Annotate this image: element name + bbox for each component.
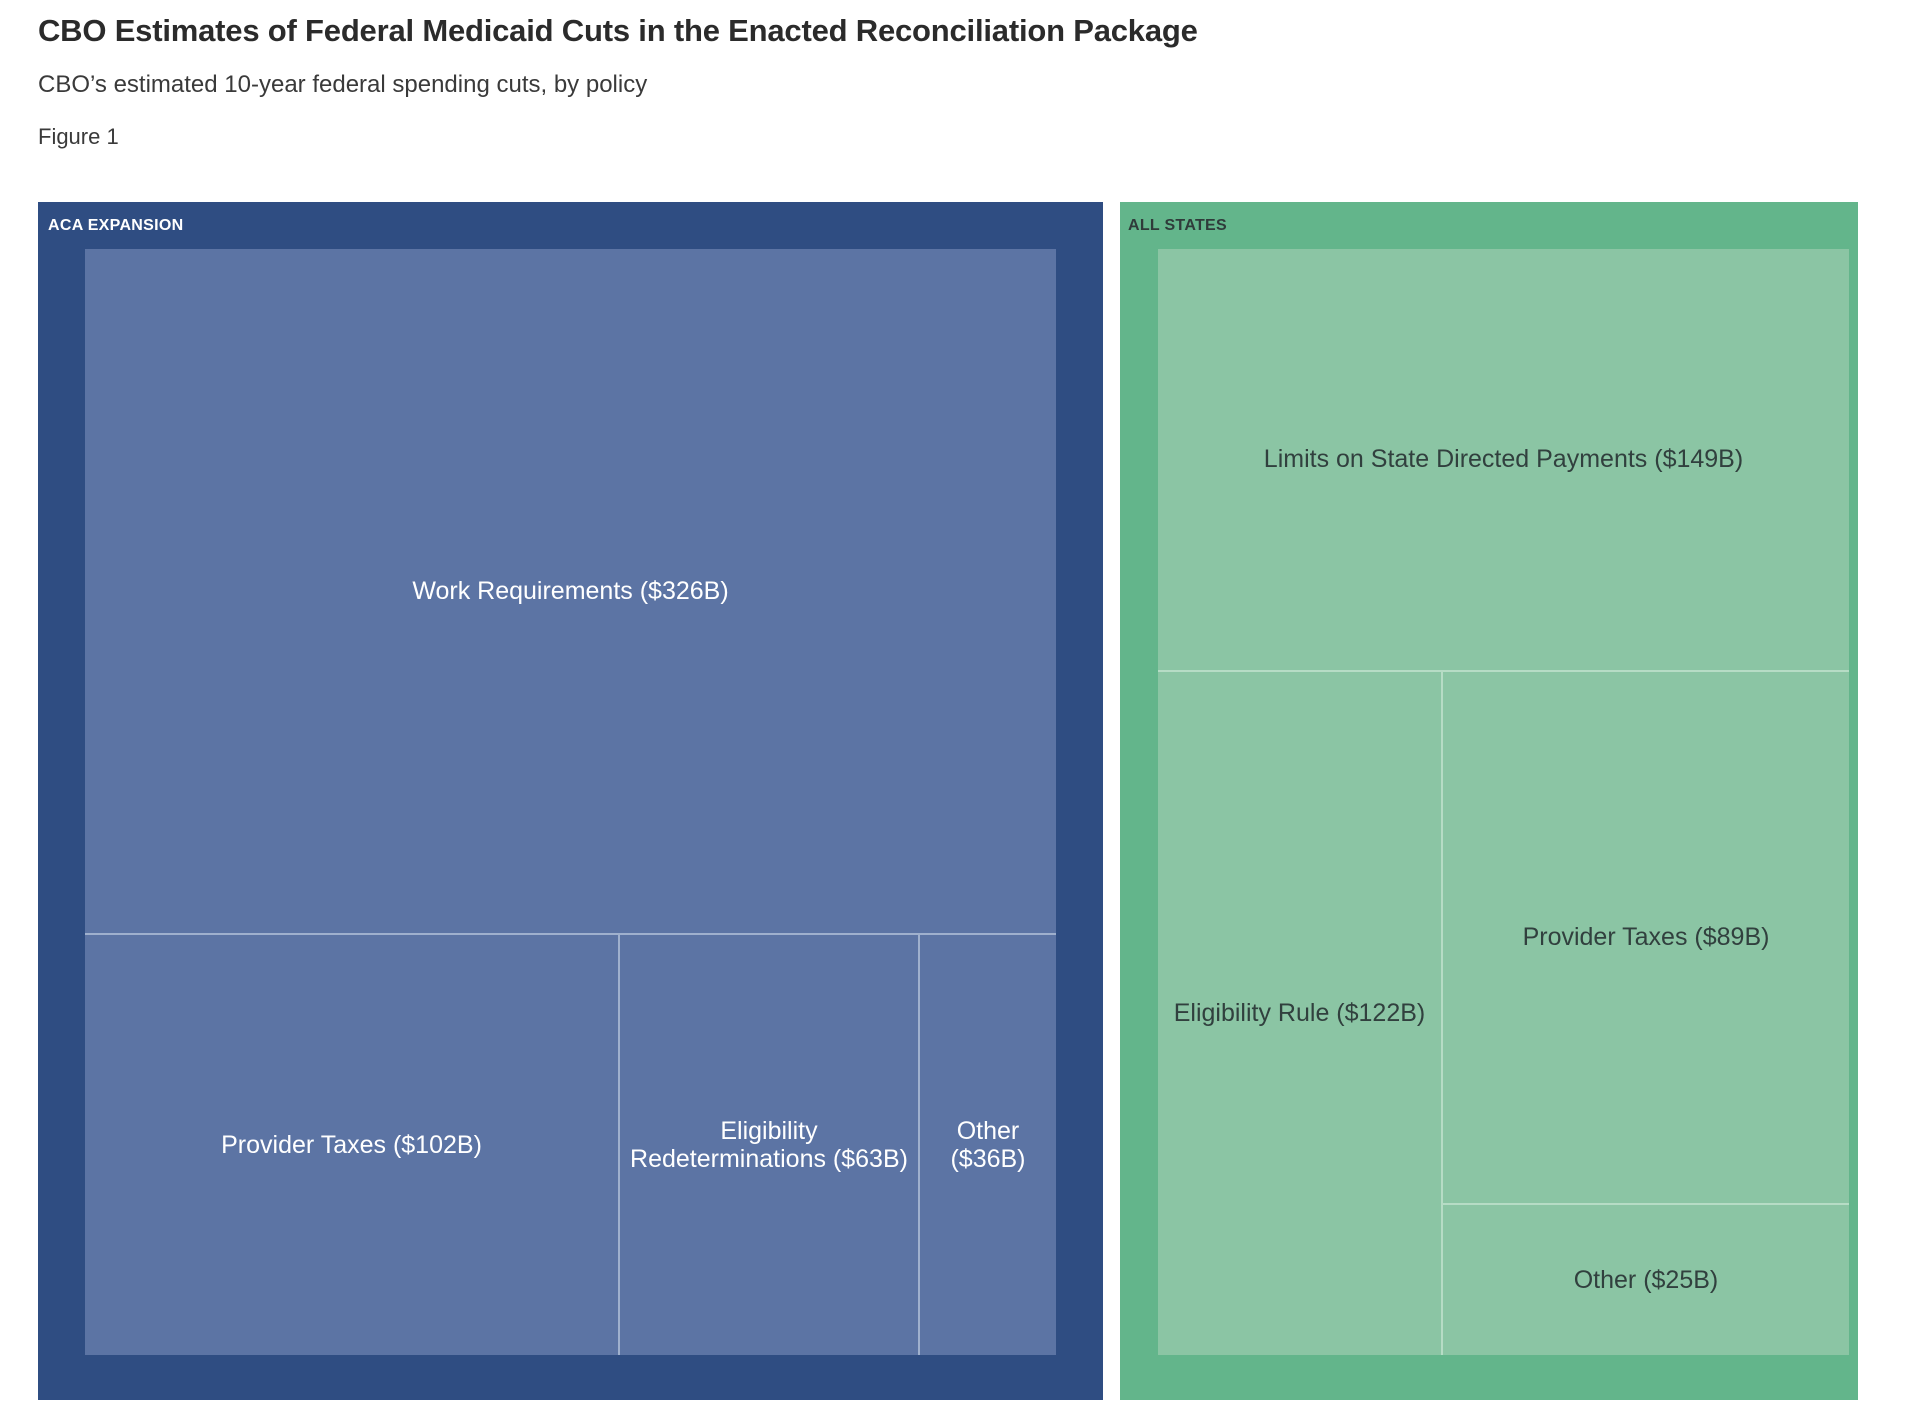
- treemap-group-all-states: ALL STATES Limits on State Directed Paym…: [1120, 202, 1858, 1400]
- treemap-tile-label: Provider Taxes ($102B): [221, 1131, 482, 1160]
- page-title: CBO Estimates of Federal Medicaid Cuts i…: [38, 0, 1879, 49]
- treemap-tiles-aca: Work Requirements ($326B) Provider Taxes…: [85, 249, 1056, 1355]
- treemap-tiles-all-states: Limits on State Directed Payments ($149B…: [1158, 249, 1849, 1355]
- treemap-tile-provider-taxes-all-states[interactable]: Provider Taxes ($89B): [1443, 672, 1849, 1205]
- treemap-tile-label: Provider Taxes ($89B): [1523, 923, 1770, 952]
- figure-label: Figure 1: [38, 100, 1879, 150]
- treemap-tile-label: Work Requirements ($326B): [412, 577, 728, 606]
- treemap-group-aca-expansion: ACA EXPANSION Work Requirements ($326B) …: [38, 202, 1103, 1400]
- treemap-tile-work-requirements[interactable]: Work Requirements ($326B): [85, 249, 1056, 935]
- treemap-tile-limits-on-state-directed-payments[interactable]: Limits on State Directed Payments ($149B…: [1158, 249, 1849, 672]
- treemap-tile-other-aca[interactable]: Other ($36B): [920, 935, 1056, 1355]
- group-header-aca-expansion: ACA EXPANSION: [38, 202, 1103, 249]
- group-header-all-states: ALL STATES: [1120, 202, 1858, 249]
- treemap-tile-label: Eligibility Redeterminations ($63B): [630, 1117, 908, 1174]
- treemap-tile-eligibility-rule[interactable]: Eligibility Rule ($122B): [1158, 672, 1443, 1355]
- group-header-label: ALL STATES: [1128, 218, 1227, 234]
- treemap-tile-label: Eligibility Rule ($122B): [1174, 999, 1426, 1028]
- treemap-tile-other-all-states[interactable]: Other ($25B): [1443, 1205, 1849, 1355]
- group-header-label: ACA EXPANSION: [48, 218, 183, 234]
- chart-page: CBO Estimates of Federal Medicaid Cuts i…: [0, 0, 1917, 1420]
- treemap-tile-eligibility-redeterminations[interactable]: Eligibility Redeterminations ($63B): [620, 935, 920, 1355]
- chart-header: CBO Estimates of Federal Medicaid Cuts i…: [38, 0, 1879, 150]
- chart-subtitle: CBO’s estimated 10-year federal spending…: [38, 49, 1879, 100]
- treemap-tile-label: Other ($36B): [930, 1117, 1046, 1174]
- treemap-chart: ACA EXPANSION Work Requirements ($326B) …: [38, 202, 1858, 1400]
- treemap-tile-label: Limits on State Directed Payments ($149B…: [1264, 445, 1743, 474]
- treemap-tile-provider-taxes-aca[interactable]: Provider Taxes ($102B): [85, 935, 620, 1355]
- treemap-tile-label: Other ($25B): [1574, 1266, 1719, 1295]
